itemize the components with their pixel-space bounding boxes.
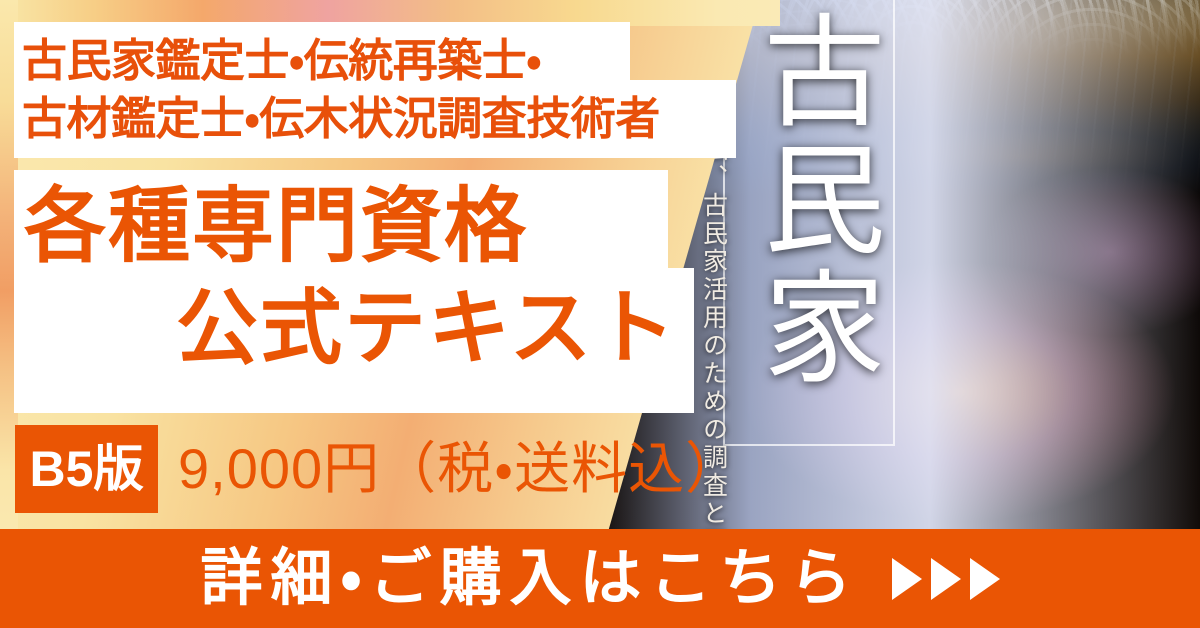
qualification-list-text: 古民家鑑定士・伝統再築士・ 古材鑑定士・伝木状況調査技術者 bbox=[22, 32, 742, 147]
cta-bar[interactable]: 詳細・ご購入はこちら bbox=[0, 529, 1200, 628]
book-title: 古民家 bbox=[740, 8, 880, 392]
cta-arrow-group bbox=[892, 558, 1000, 600]
headline-line-2: 公式テキスト bbox=[176, 288, 678, 370]
cta-label: 詳細・ご購入はこちら bbox=[200, 548, 859, 610]
promo-banner: 古民家 伝統構法、古民家活用のための調査と再生の 古民家鑑定士・伝統再築士・ 古… bbox=[0, 0, 1200, 628]
triangle-right-icon bbox=[970, 558, 1000, 600]
price-text: 9,000円（税・送料込） bbox=[178, 430, 742, 508]
headline-line-1: 各種専門資格 bbox=[24, 186, 528, 268]
format-badge: B5版 bbox=[15, 425, 158, 513]
triangle-right-icon bbox=[931, 558, 961, 600]
triangle-right-icon bbox=[892, 558, 922, 600]
